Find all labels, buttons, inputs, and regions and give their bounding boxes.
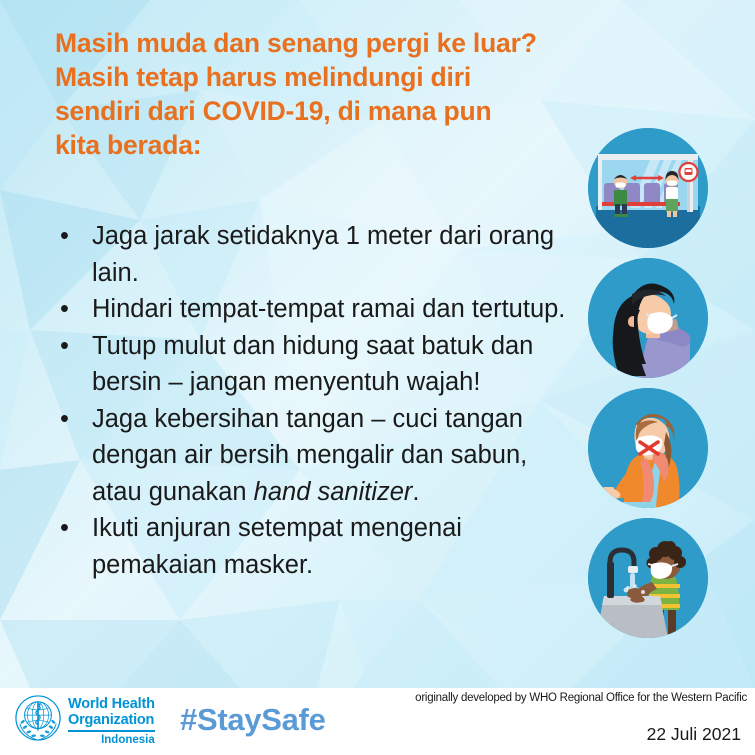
bullet-point-icon: •	[60, 510, 69, 547]
list-item: • Jaga kebersihan tangan – cuci tangan d…	[52, 401, 572, 511]
list-item-text: Jaga kebersihan tangan – cuci tangan den…	[92, 405, 527, 506]
list-item-text: Hindari tempat-tempat ramai dan tertutup…	[92, 295, 565, 323]
list-item-text: Tutup mulut dan hidung saat batuk dan be…	[92, 332, 533, 397]
publication-date: 22 Juli 2021	[647, 724, 741, 745]
list-item-text: Jaga jarak setidaknya 1 meter dari orang…	[92, 222, 554, 287]
who-emblem-icon	[14, 694, 62, 742]
heading-line-4: kita berada:	[55, 128, 585, 162]
list-item: • Jaga jarak setidaknya 1 meter dari ora…	[52, 218, 572, 291]
heading-line-3: sendiri dari COVID-19, di mana pun	[55, 94, 585, 128]
page-title: Masih muda dan senang pergi ke luar? Mas…	[55, 26, 585, 162]
list-item: • Hindari tempat-tempat ramai dan tertut…	[52, 291, 572, 328]
list-item-text: Ikuti anjuran setempat mengenai pemakaia…	[92, 514, 462, 579]
bullet-point-icon: •	[60, 291, 69, 328]
staysafe-hashtag: #StaySafe	[180, 702, 326, 738]
list-item: • Tutup mulut dan hidung saat batuk dan …	[52, 328, 572, 401]
heading-line-1: Masih muda dan senang pergi ke luar?	[55, 26, 585, 60]
safety-tips-list: • Jaga jarak setidaknya 1 meter dari ora…	[52, 218, 572, 583]
illustration-cover-cough-with-tissue	[588, 388, 708, 508]
list-item-text-italic: hand sanitizer	[254, 478, 413, 506]
bullet-point-icon: •	[60, 218, 69, 255]
who-country-label: Indonesia	[68, 732, 155, 747]
footer: World Health Organization Indonesia #Sta…	[0, 688, 755, 755]
list-item-text-after-italic: .	[412, 478, 419, 506]
bullet-point-icon: •	[60, 401, 69, 438]
credit-text: originally developed by WHO Regional Off…	[415, 692, 747, 704]
list-item: • Ikuti anjuran setempat mengenai pemaka…	[52, 510, 572, 583]
illustration-physical-distancing-at-bus-stop	[588, 128, 708, 248]
illustration-woman-wearing-mask	[588, 258, 708, 378]
who-name-line-2: Organization	[68, 713, 155, 729]
who-logo: World Health Organization Indonesia	[14, 694, 155, 747]
covid-safety-infographic: Masih muda dan senang pergi ke luar? Mas…	[0, 0, 755, 755]
illustration-washing-hands-at-sink	[588, 518, 708, 638]
who-name-line-1: World Health	[68, 697, 155, 713]
heading-line-2: Masih tetap harus melindungi diri	[55, 60, 585, 94]
bullet-point-icon: •	[60, 328, 69, 365]
